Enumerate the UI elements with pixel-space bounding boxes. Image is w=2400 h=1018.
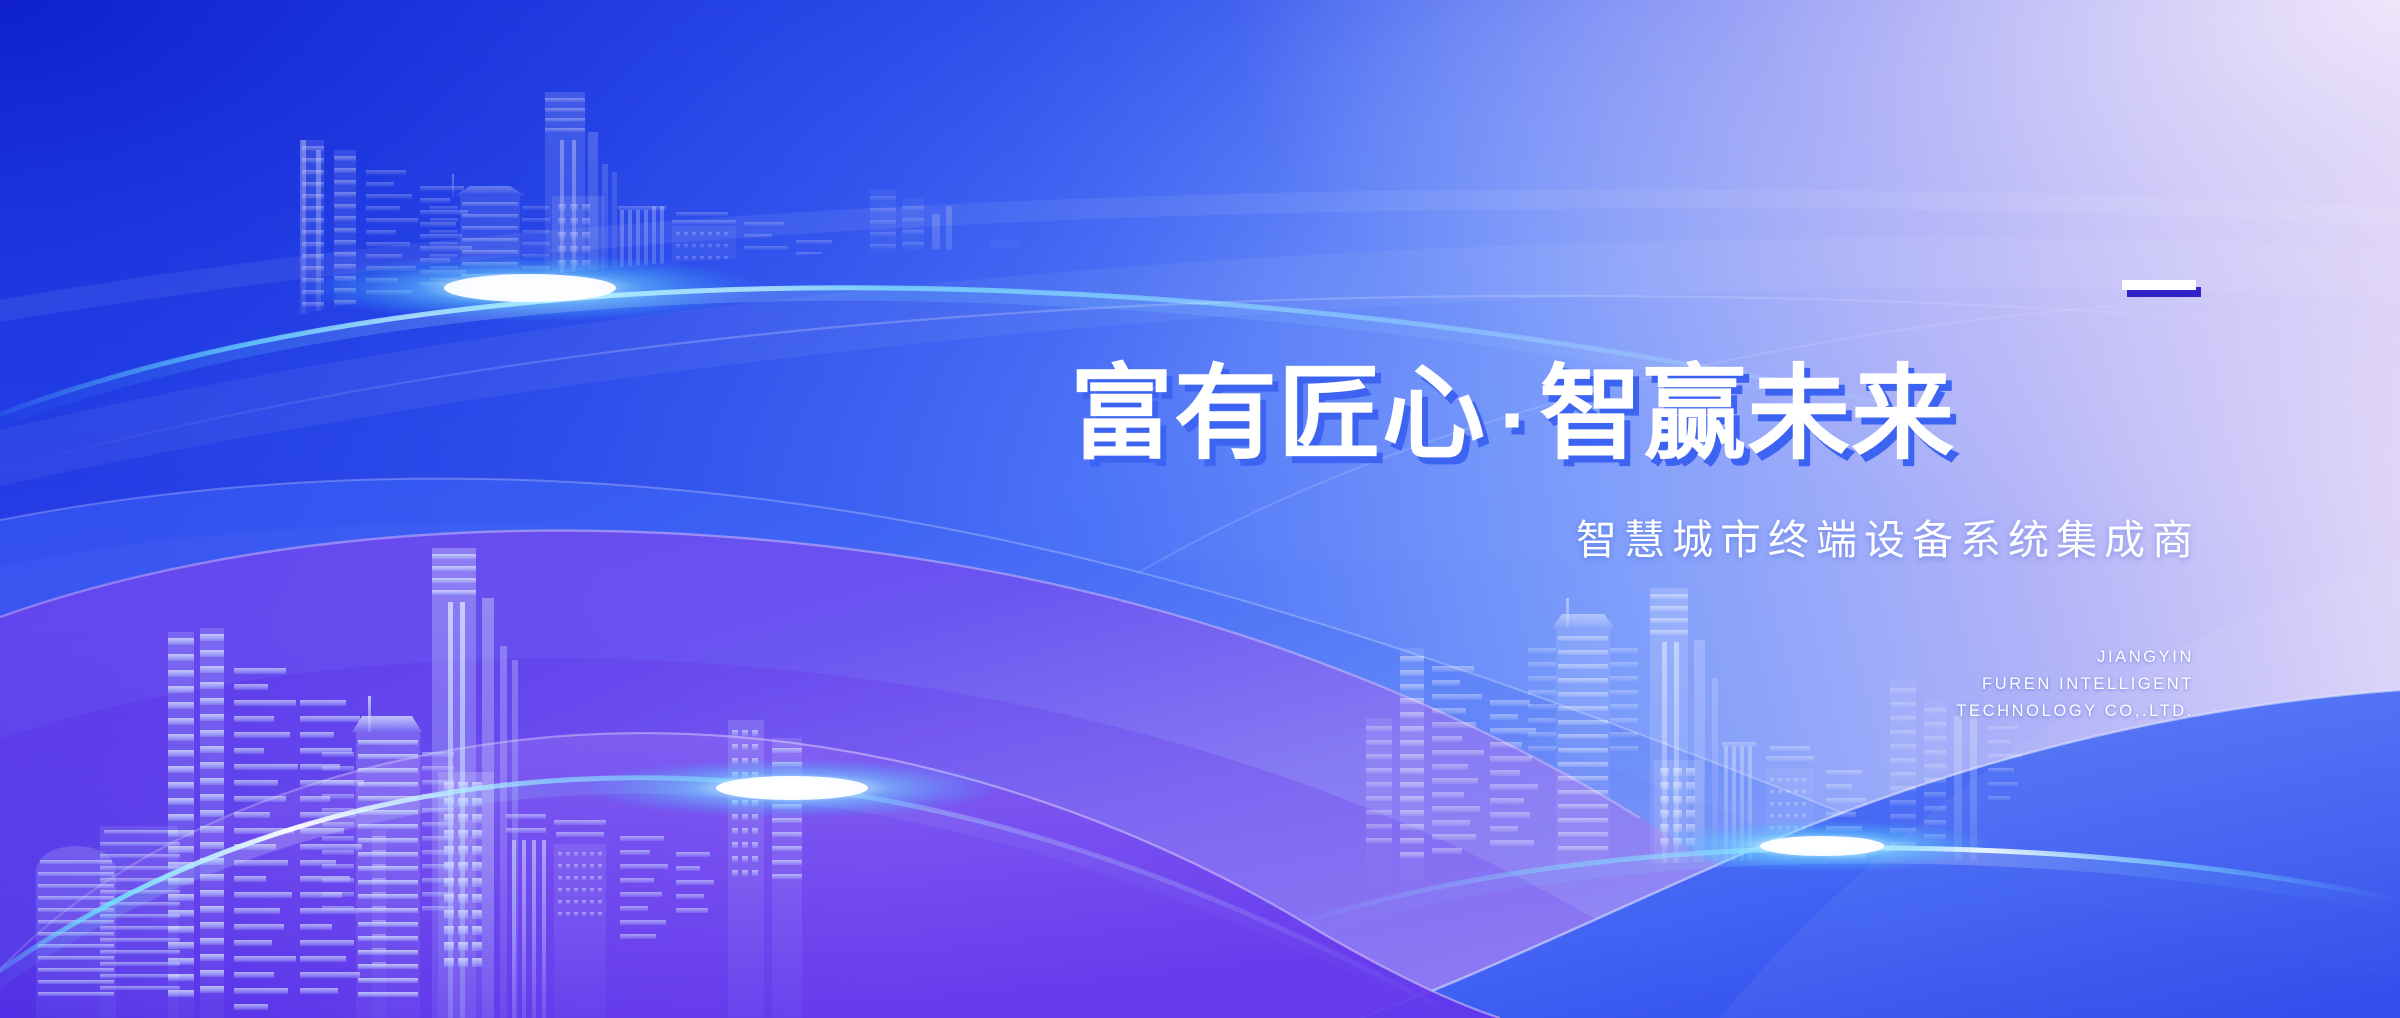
- background-artwork: [0, 0, 2400, 1018]
- banner-poster: 富有匠心·智赢未来 智慧城市终端设备系统集成商 JIANGYIN FUREN I…: [0, 0, 2400, 1018]
